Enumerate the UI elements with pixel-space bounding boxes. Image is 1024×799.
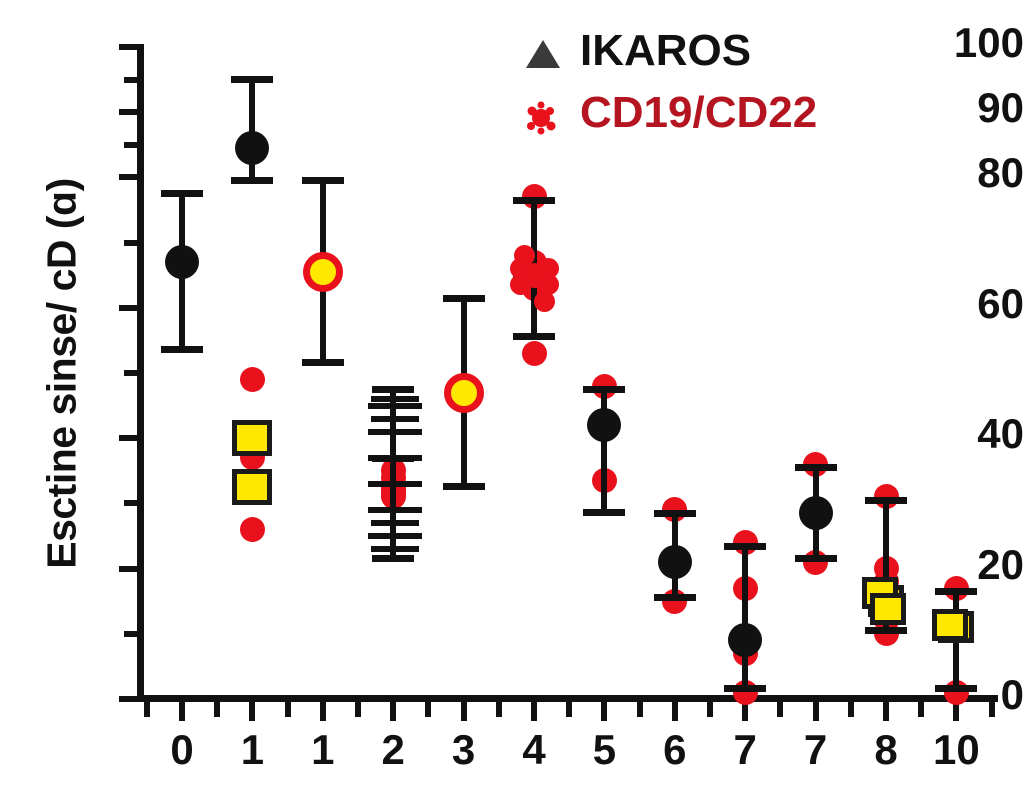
triangle-marker-icon bbox=[526, 40, 560, 68]
error-cap-bottom bbox=[302, 359, 344, 366]
splatter-marker-icon bbox=[522, 100, 560, 136]
x-tick-label: 3 bbox=[424, 726, 504, 774]
x-tick-minor bbox=[496, 700, 502, 717]
legend-label-ikaros: IKAROS bbox=[580, 26, 751, 76]
cluster-cap bbox=[391, 396, 419, 402]
x-tick-minor bbox=[918, 700, 924, 717]
x-tick-major bbox=[672, 700, 678, 721]
data-point-red bbox=[240, 517, 265, 542]
error-cap-bottom bbox=[443, 483, 485, 490]
y-tick-label: 80 bbox=[928, 149, 1024, 197]
y-tick-minor bbox=[124, 240, 138, 246]
mean-marker-black bbox=[799, 496, 833, 530]
x-tick-major bbox=[883, 700, 889, 721]
error-cap-top bbox=[935, 588, 977, 595]
y-tick-major bbox=[119, 566, 138, 572]
y-tick-major bbox=[119, 174, 138, 180]
y-tick-label: 100 bbox=[928, 19, 1024, 67]
x-tick-label: 10 bbox=[916, 726, 996, 774]
cluster-cap bbox=[368, 455, 396, 461]
y-tick-label: 40 bbox=[928, 410, 1024, 458]
y-axis-title: Esctine sinse/ cD (ɑ) bbox=[39, 54, 86, 694]
cluster-cap bbox=[394, 507, 422, 513]
x-tick-minor bbox=[425, 700, 431, 717]
error-bar bbox=[601, 386, 607, 516]
y-tick-minor bbox=[124, 370, 138, 376]
cluster-cap bbox=[394, 403, 422, 409]
error-cap-bottom bbox=[654, 594, 696, 601]
data-point-red bbox=[522, 263, 547, 288]
x-tick-label: 1 bbox=[212, 726, 292, 774]
error-cap-bottom bbox=[513, 333, 555, 340]
cluster-cap bbox=[394, 533, 422, 539]
y-tick-label: 0 bbox=[928, 671, 1024, 719]
x-tick-label: 7 bbox=[705, 726, 785, 774]
x-tick-minor bbox=[989, 700, 995, 717]
y-tick-major bbox=[119, 305, 138, 311]
x-tick-major bbox=[461, 700, 467, 721]
mean-marker-yellow-circle bbox=[303, 252, 343, 292]
cluster-cap bbox=[391, 416, 419, 422]
error-cap-top bbox=[583, 386, 625, 393]
yellow-square-marker bbox=[232, 420, 272, 456]
chart-canvas: Esctine sinse/ cD (ɑ) 10090806040200 011… bbox=[0, 0, 1024, 799]
data-point-red bbox=[522, 341, 547, 366]
x-tick-minor bbox=[144, 700, 150, 717]
error-cap-top bbox=[654, 510, 696, 517]
data-point-red bbox=[240, 367, 265, 392]
error-cap-bottom bbox=[795, 555, 837, 562]
error-cap-top bbox=[231, 76, 273, 83]
y-tick-label: 60 bbox=[928, 280, 1024, 328]
cluster-cap bbox=[394, 429, 422, 435]
yellow-square-marker bbox=[932, 609, 968, 641]
error-bar bbox=[742, 543, 748, 693]
data-point-red bbox=[534, 291, 555, 312]
cluster-cap bbox=[394, 455, 422, 461]
y-tick-major bbox=[119, 44, 138, 50]
error-cap-bottom bbox=[865, 627, 907, 634]
cluster-cap bbox=[368, 507, 396, 513]
error-cap-bottom bbox=[161, 346, 203, 353]
cluster-cap bbox=[394, 481, 422, 487]
legend-label-cd19-cd22: CD19/CD22 bbox=[580, 88, 817, 138]
y-tick-major bbox=[119, 696, 138, 702]
y-tick-label: 20 bbox=[928, 541, 1024, 589]
x-tick-label: 0 bbox=[142, 726, 222, 774]
cluster-cap bbox=[368, 403, 396, 409]
mean-marker-black bbox=[587, 408, 621, 442]
y-axis-line bbox=[137, 44, 144, 702]
x-tick-major bbox=[390, 700, 396, 721]
x-tick-label: 5 bbox=[564, 726, 644, 774]
x-tick-label: 8 bbox=[846, 726, 926, 774]
cluster-cap bbox=[368, 533, 396, 539]
cluster-cap bbox=[368, 481, 396, 487]
cluster-cap bbox=[368, 429, 396, 435]
x-tick-minor bbox=[285, 700, 291, 717]
error-cap-top bbox=[161, 190, 203, 197]
x-tick-label: 4 bbox=[494, 726, 574, 774]
error-cap-bottom bbox=[935, 685, 977, 692]
mean-marker-yellow-circle bbox=[444, 373, 484, 413]
error-cap-top bbox=[513, 197, 555, 204]
mean-marker-black bbox=[165, 245, 199, 279]
y-tick-minor bbox=[124, 77, 138, 83]
error-cap-top bbox=[443, 295, 485, 302]
y-tick-major bbox=[119, 109, 138, 115]
error-cap-top bbox=[795, 464, 837, 471]
yellow-square-marker bbox=[870, 593, 906, 625]
x-tick-major bbox=[813, 700, 819, 721]
cluster-cap bbox=[391, 520, 419, 526]
x-tick-major bbox=[320, 700, 326, 721]
error-cap-bottom bbox=[372, 555, 414, 562]
x-tick-minor bbox=[637, 700, 643, 717]
error-cap-bottom bbox=[724, 685, 766, 692]
x-tick-minor bbox=[355, 700, 361, 717]
x-tick-label: 2 bbox=[353, 726, 433, 774]
x-tick-label: 1 bbox=[283, 726, 363, 774]
x-tick-major bbox=[249, 700, 255, 721]
error-cap-bottom bbox=[583, 509, 625, 516]
y-tick-minor bbox=[124, 631, 138, 637]
y-tick-major bbox=[119, 435, 138, 441]
mean-marker-black bbox=[235, 131, 269, 165]
error-cap-top bbox=[865, 497, 907, 504]
error-cap-top bbox=[372, 386, 414, 393]
y-tick-minor bbox=[124, 142, 138, 148]
error-cap-bottom bbox=[231, 177, 273, 184]
x-tick-minor bbox=[214, 700, 220, 717]
x-tick-label: 6 bbox=[635, 726, 715, 774]
mean-marker-black bbox=[658, 545, 692, 579]
y-tick-minor bbox=[124, 500, 138, 506]
error-cap-top bbox=[724, 543, 766, 550]
yellow-square-marker bbox=[232, 469, 272, 505]
x-tick-major bbox=[601, 700, 607, 721]
x-tick-minor bbox=[848, 700, 854, 717]
error-cap-top bbox=[302, 177, 344, 184]
x-tick-minor bbox=[777, 700, 783, 717]
x-tick-major bbox=[179, 700, 185, 721]
x-tick-minor bbox=[566, 700, 572, 717]
x-tick-label: 7 bbox=[776, 726, 856, 774]
x-tick-minor bbox=[707, 700, 713, 717]
y-tick-label: 90 bbox=[928, 84, 1024, 132]
cluster-cap bbox=[391, 546, 419, 552]
x-tick-major bbox=[531, 700, 537, 721]
